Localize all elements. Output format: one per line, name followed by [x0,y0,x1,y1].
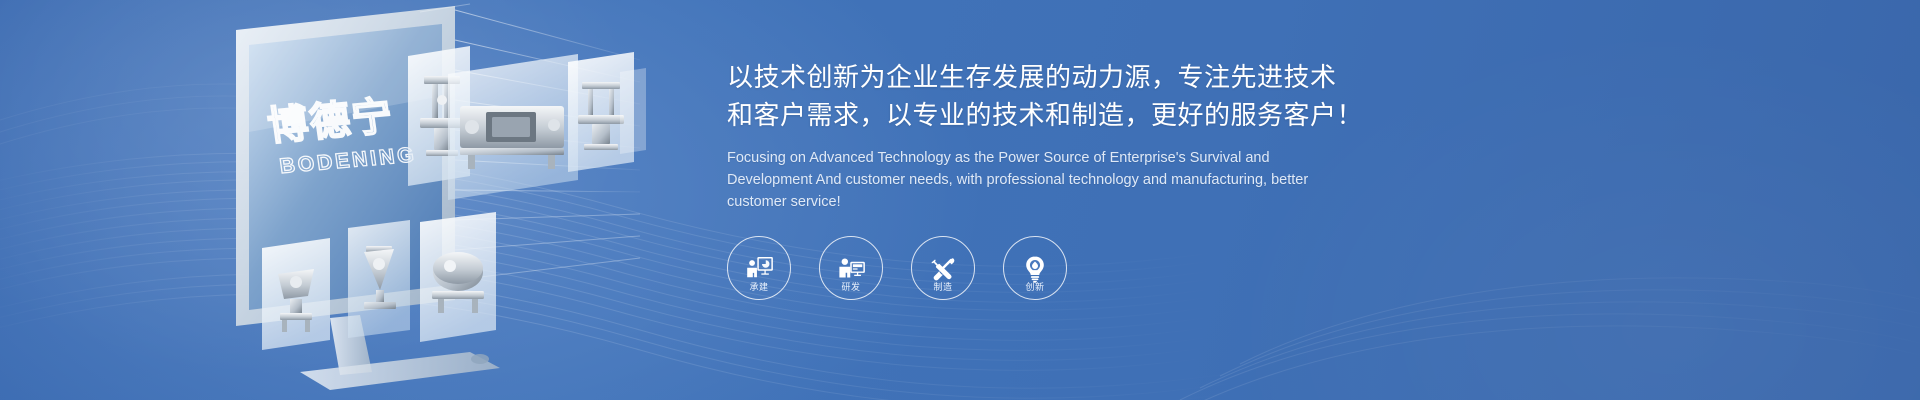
headline-line-1: 以技术创新为企业生存发展的动力源，专注先进技术 [727,58,1427,96]
headline-line-2: 和客户需求，以专业的技术和制造，更好的服务客户！ [727,96,1427,134]
feature-label: 承建 [728,283,790,292]
feature-item-manufacturing[interactable]: 制造 [911,236,975,300]
feature-item-construction[interactable]: 承建 [727,236,791,300]
floating-panel-drum-mixer [420,212,496,342]
banner-text-content: 以技术创新为企业生存发展的动力源，专注先进技术 和客户需求，以专业的技术和制造，… [727,58,1427,213]
presentation-chart-icon [744,254,774,284]
product-display-visual: 博德宁 BODENING [0,0,700,400]
person-computer-icon [836,254,866,284]
feature-icon-list: 承建 研发 [727,236,1067,300]
hero-banner: 博德宁 BODENING [0,0,1920,400]
feature-label: 创新 [1004,283,1066,292]
floating-panel-right-strip [620,68,646,154]
floating-panel-cone-dryer [348,220,410,338]
floating-panel-machine-wide [448,54,578,200]
wrench-screwdriver-icon [928,254,958,284]
lightbulb-icon [1020,254,1050,284]
feature-item-innovation[interactable]: 创新 [1003,236,1067,300]
subtitle-english: Focusing on Advanced Technology as the P… [727,147,1345,213]
feature-item-research[interactable]: 研发 [819,236,883,300]
feature-label: 研发 [820,283,882,292]
floating-panel-mixer-left [262,238,330,350]
feature-label: 制造 [912,283,974,292]
